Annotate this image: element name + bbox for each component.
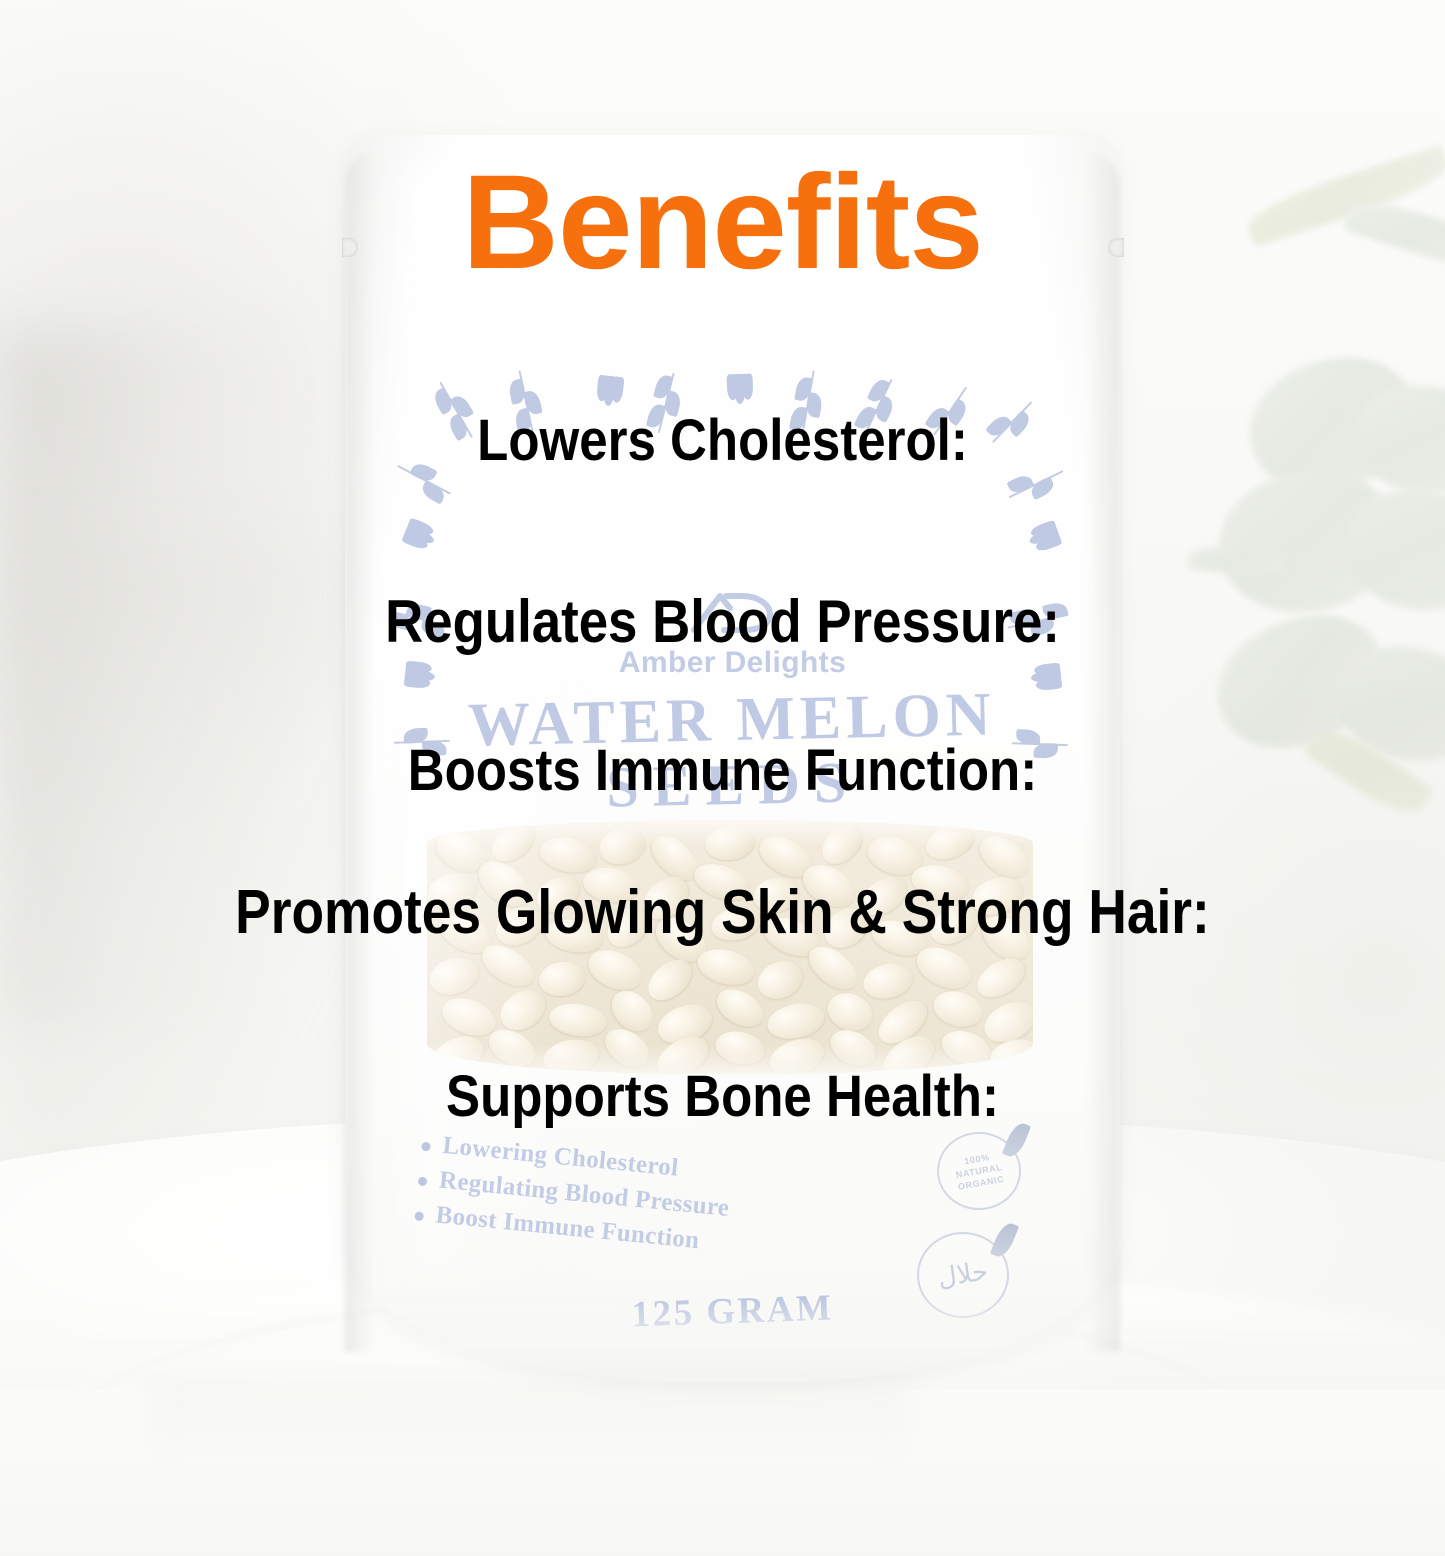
benefit-item-1: Lowers Cholesterol: xyxy=(87,412,1359,470)
benefit-item-5: Supports Bone Health: xyxy=(87,1068,1359,1126)
product-benefits-image: Amber Delights WATER MELON SEEDS 100% NA… xyxy=(0,0,1445,1556)
benefit-item-2: Regulates Blood Pressure: xyxy=(87,592,1359,652)
benefit-item-3: Boosts Immune Function: xyxy=(87,742,1359,800)
benefit-item-4: Promotes Glowing Skin & Strong Hair: xyxy=(101,882,1344,944)
page-title: Benefits xyxy=(0,156,1445,290)
text-overlay: Benefits Lowers Cholesterol: Regulates B… xyxy=(0,0,1445,1556)
